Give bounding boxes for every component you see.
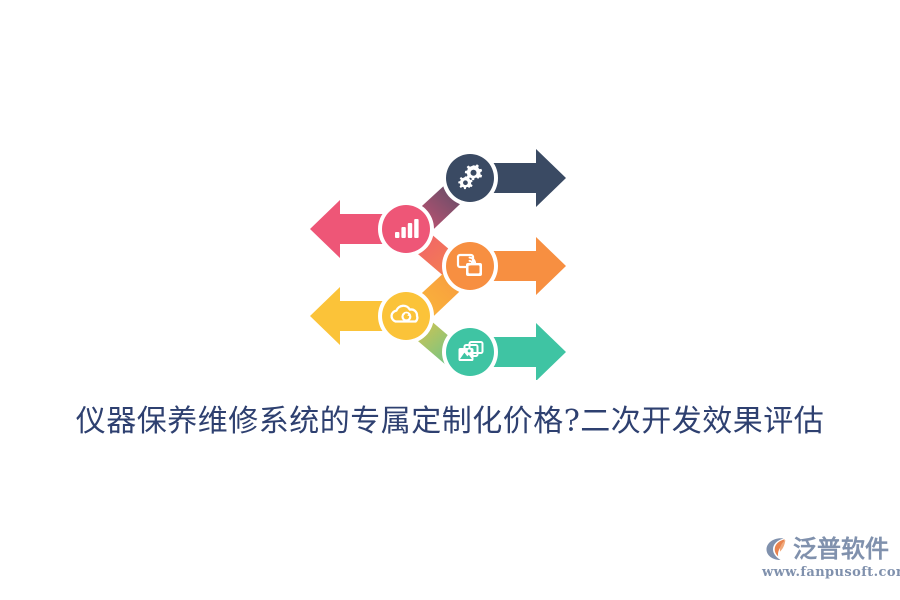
brand-logo[interactable]: 泛普软件 www.fanpusoft.com [762, 534, 890, 582]
page-root: 仪器保养维修系统的专属定制化价格?二次开发效果评估 泛普软件 www.fanpu… [0, 0, 900, 600]
arrow-item-screen-cast[interactable] [442, 237, 566, 295]
logo-row: 泛普软件 [762, 534, 890, 564]
logo-url: www.fanpusoft.com [762, 565, 890, 580]
infographic-graphic [300, 140, 580, 380]
arrow-item-cloud-sync[interactable] [310, 287, 434, 345]
arrow-item-gears[interactable] [442, 149, 566, 207]
page-title: 仪器保养维修系统的专属定制化价格?二次开发效果评估 [0, 400, 900, 444]
fanpu-logo-icon [762, 535, 790, 563]
badge-circle-pink [382, 205, 430, 253]
badge-circle-navy [446, 154, 494, 202]
logo-brand-name: 泛普软件 [793, 535, 889, 563]
arrow-item-bar-chart[interactable] [310, 200, 434, 258]
arrow-item-images[interactable] [442, 323, 566, 380]
